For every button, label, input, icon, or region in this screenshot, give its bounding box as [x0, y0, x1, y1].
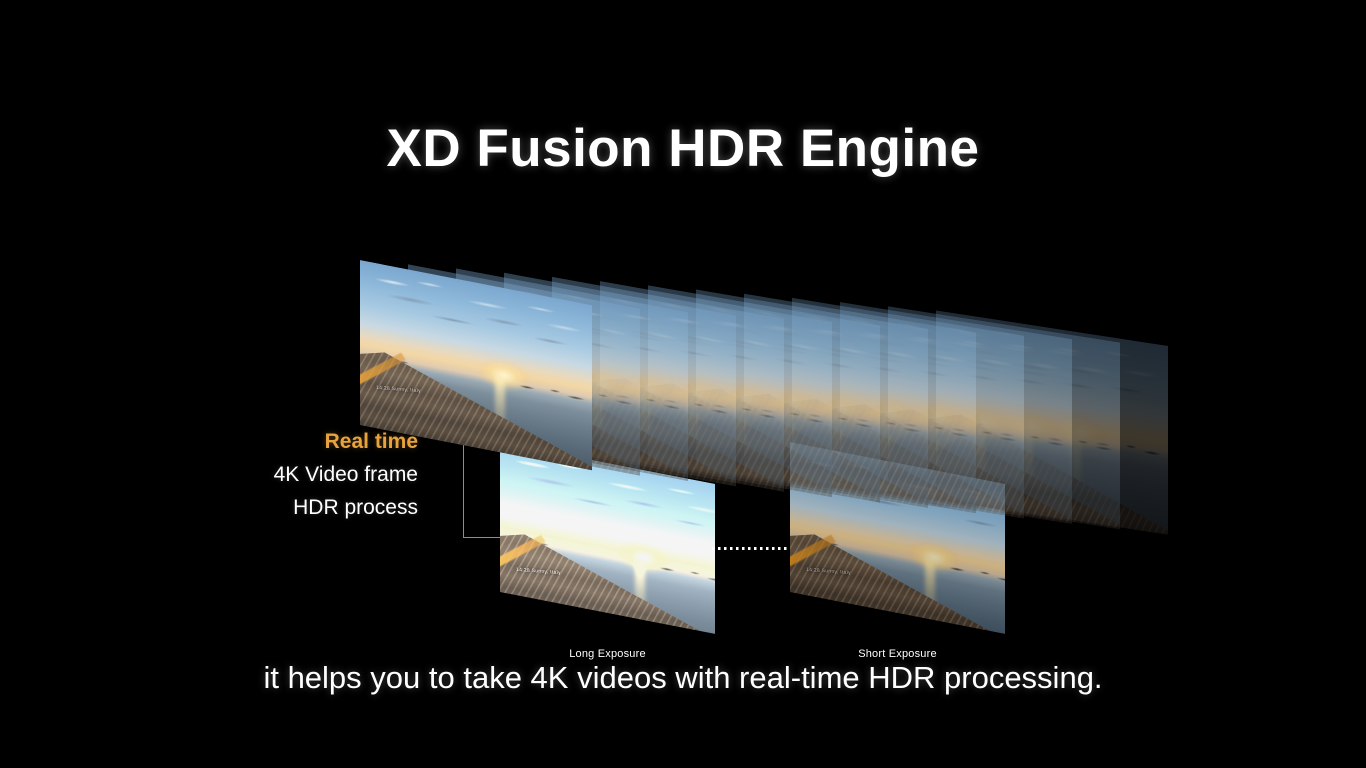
sun-reflection	[925, 557, 935, 634]
short-exposure-caption: Short Exposure	[790, 648, 1005, 660]
slide-canvas: XD Fusion HDR Engine 14:28 Sunny, Italy …	[0, 0, 1366, 768]
long-exposure-caption: Long Exposure	[500, 648, 715, 660]
page-title: XD Fusion HDR Engine	[0, 118, 1366, 179]
long-exposure-block: 14:28 Sunny, Italy Long Exposure	[500, 462, 715, 637]
sun-reflection	[635, 557, 645, 634]
video-frame-stack: 14:28 Sunny, Italy	[360, 248, 1020, 448]
slide-caption: it helps you to take 4K videos with real…	[0, 660, 1366, 696]
annotation-4k-video-frame: 4K Video frame	[150, 463, 418, 487]
annotation-real-time: Real time	[150, 430, 418, 454]
annotation-labels: Real time 4K Video frame HDR process	[150, 430, 418, 529]
annotation-hdr-process: HDR process	[150, 496, 418, 520]
